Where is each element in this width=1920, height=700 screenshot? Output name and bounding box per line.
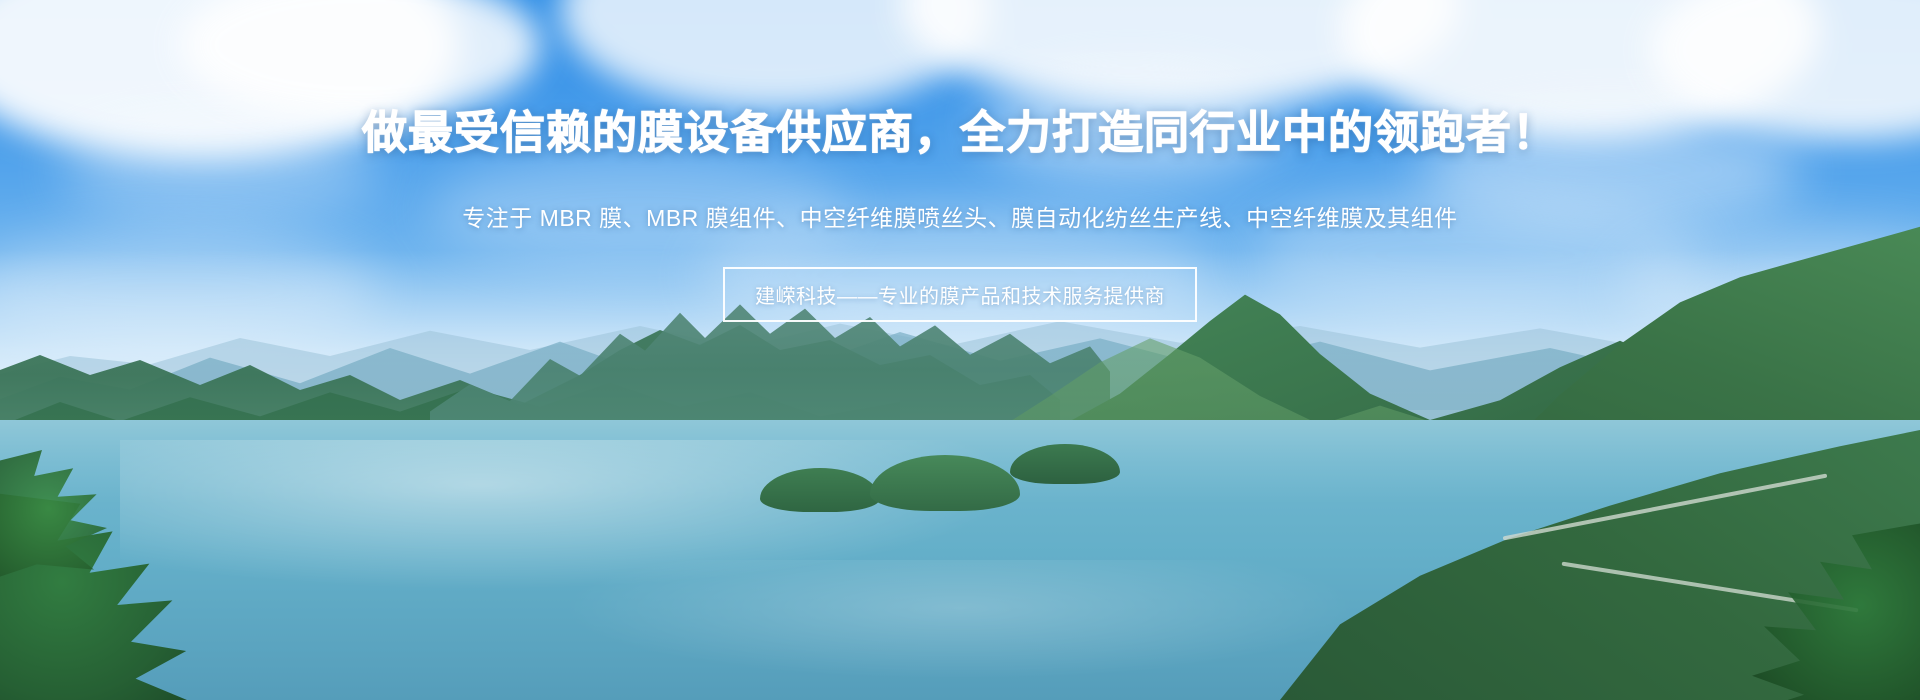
banner-tagline: 建嵘科技——专业的膜产品和技术服务提供商 xyxy=(755,286,1165,308)
banner-content: 做最受信赖的膜设备供应商，全力打造同行业中的领跑者！ 专注于 MBR 膜、MBR… xyxy=(0,0,1920,322)
banner-tagline-box: 建嵘科技——专业的膜产品和技术服务提供商 xyxy=(723,267,1197,322)
banner-subtitle: 专注于 MBR 膜、MBR 膜组件、中空纤维膜喷丝头、膜自动化纺丝生产线、中空纤… xyxy=(462,199,1457,233)
hero-banner: 做最受信赖的膜设备供应商，全力打造同行业中的领跑者！ 专注于 MBR 膜、MBR… xyxy=(0,0,1920,700)
water-reflection xyxy=(560,560,1360,680)
banner-headline: 做最受信赖的膜设备供应商，全力打造同行业中的领跑者！ xyxy=(362,96,1558,161)
